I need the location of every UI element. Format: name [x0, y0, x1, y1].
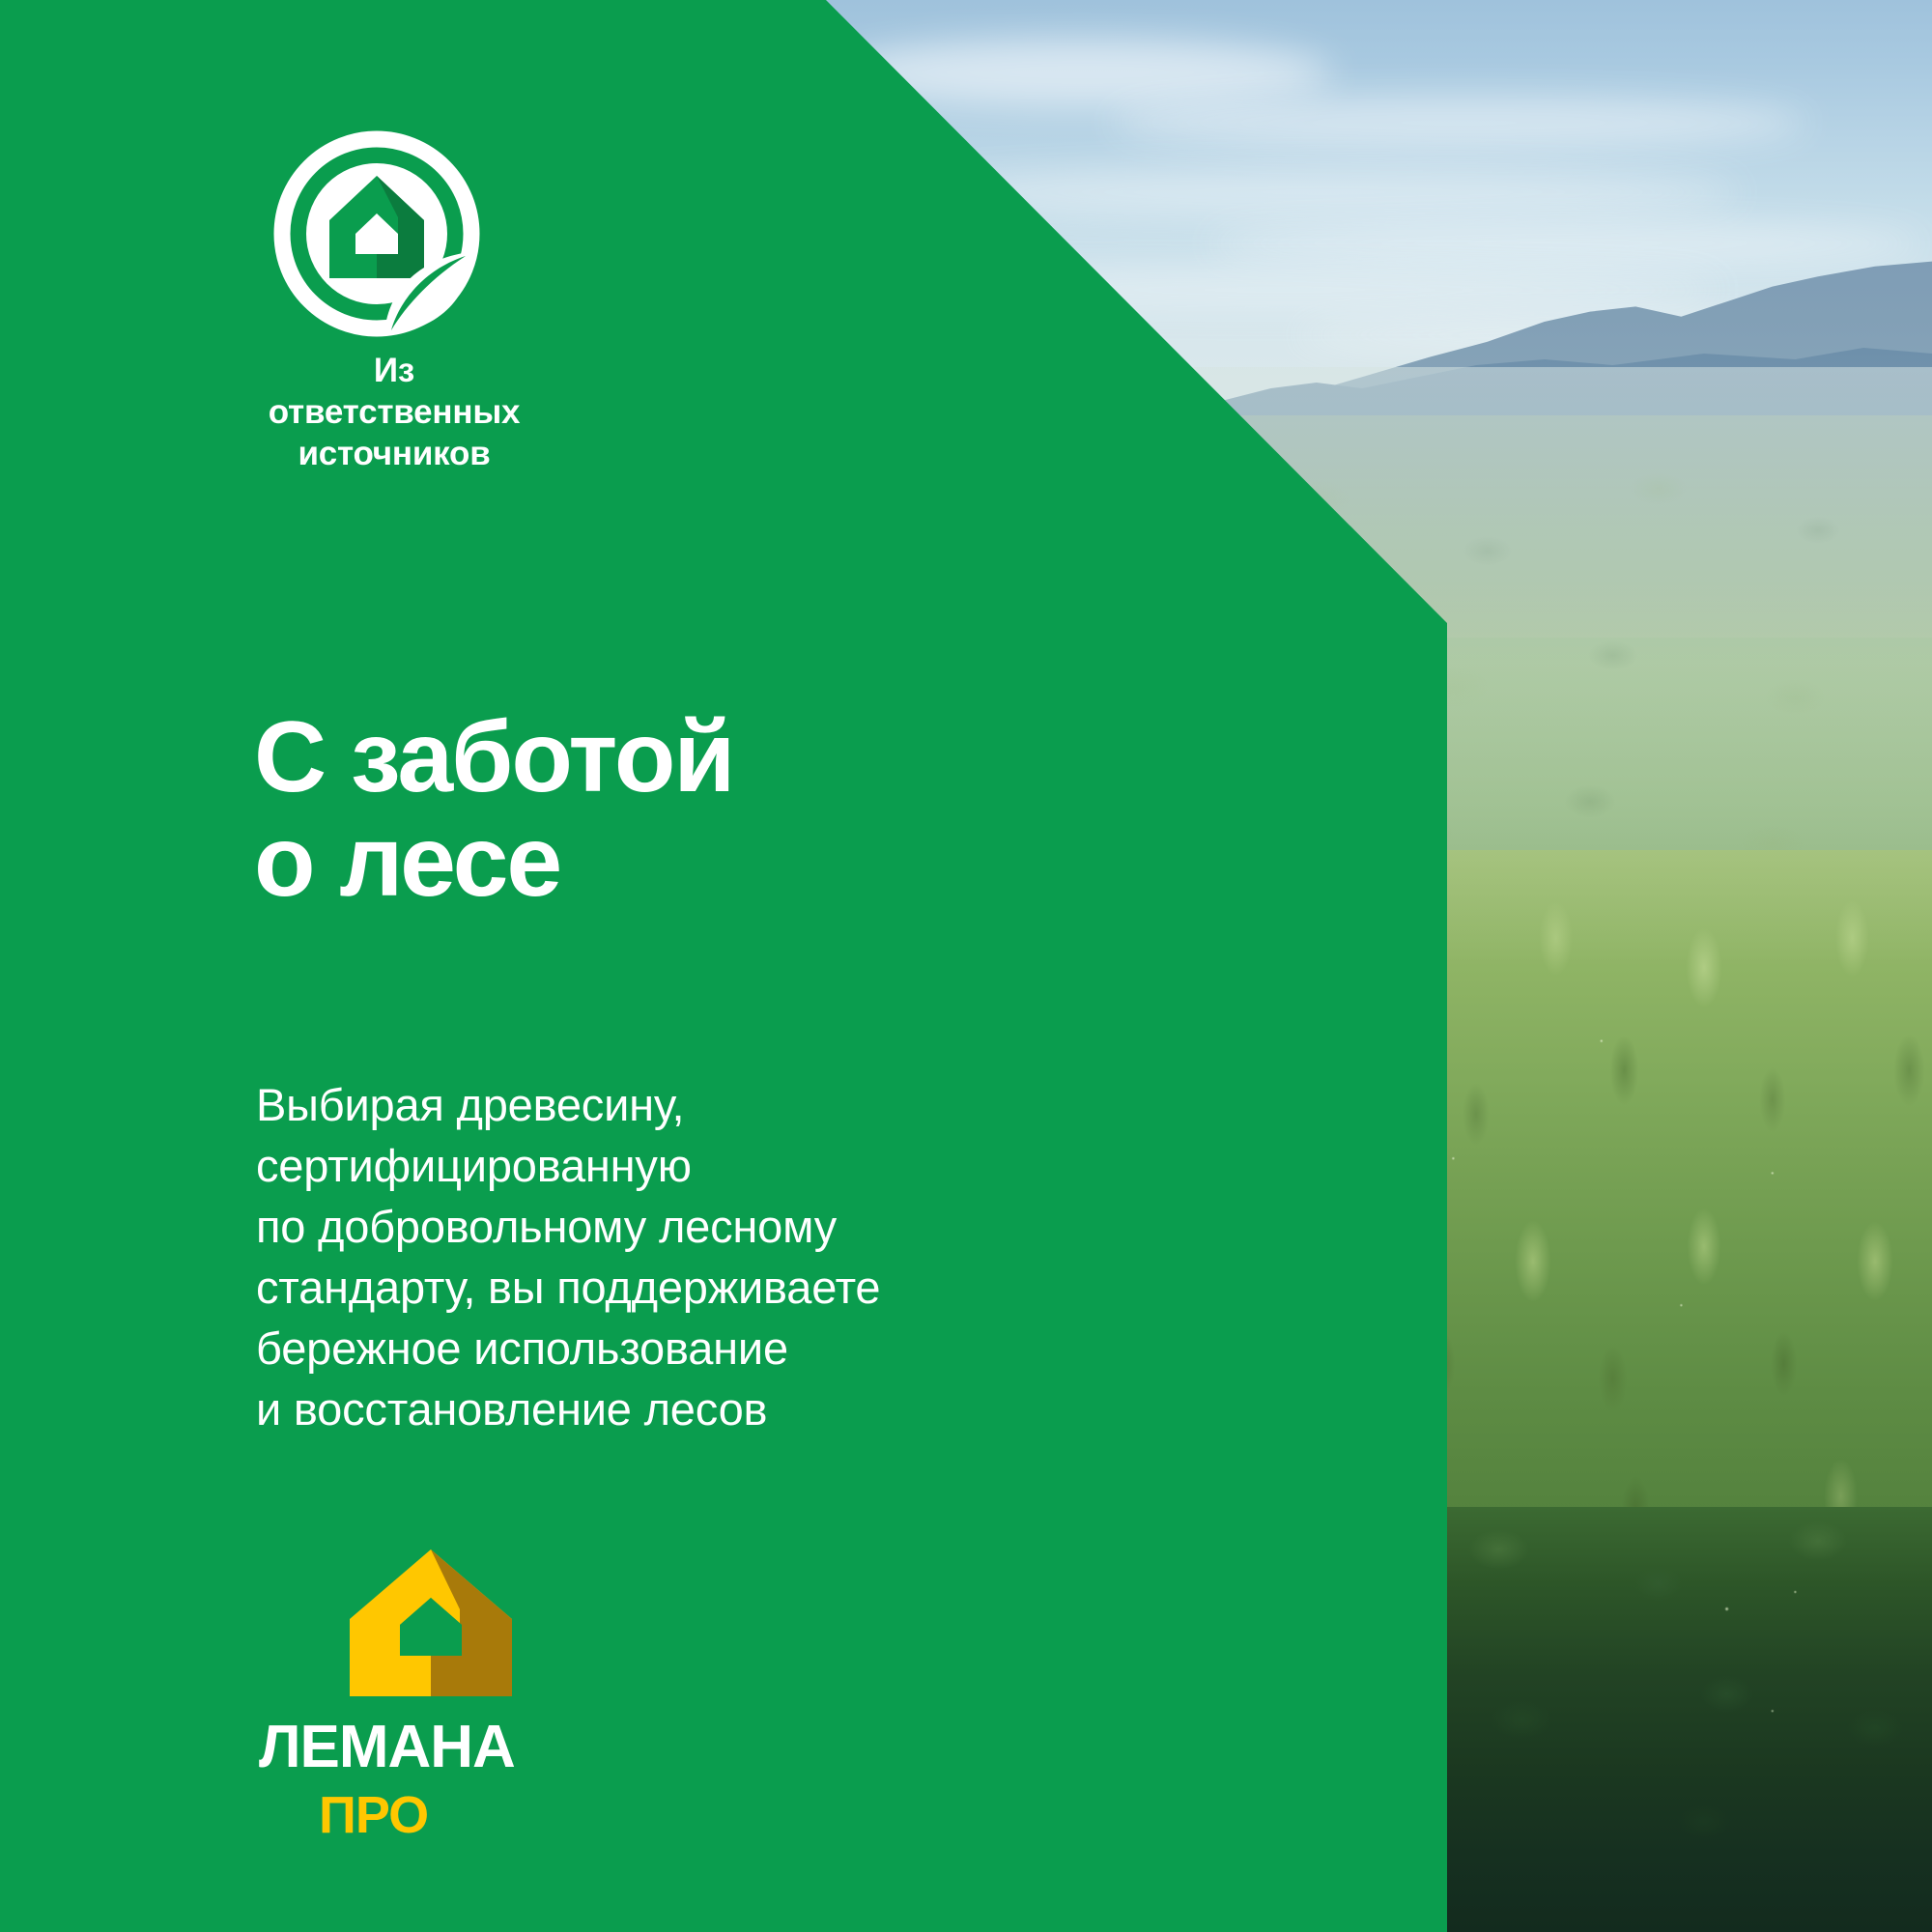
poster-root: Из ответственных источников С заботой о … — [0, 0, 1932, 1932]
lemana-wordmark-text: ЛЕМАНА — [259, 1714, 515, 1779]
lemana-house-icon — [346, 1546, 516, 1700]
eco-badge-caption: Из ответственных источников — [249, 350, 539, 474]
body-copy: Выбирая древесину, сертифицированную по … — [256, 1074, 880, 1439]
poster-content: Из ответственных источников С заботой о … — [0, 0, 1932, 1932]
pro-wordmark-text: ПРО — [319, 1787, 428, 1843]
eco-badge: Из ответственных источников — [249, 130, 539, 474]
lemana-wordmark: ЛЕМАНА — [259, 1714, 578, 1779]
headline: С заботой о лесе — [254, 705, 733, 914]
responsible-sourcing-house-leaf-mark-icon — [263, 130, 526, 338]
brand-lockup: ЛЕМАНА ПРО — [259, 1546, 607, 1843]
pro-wordmark: ПРО — [319, 1787, 512, 1843]
